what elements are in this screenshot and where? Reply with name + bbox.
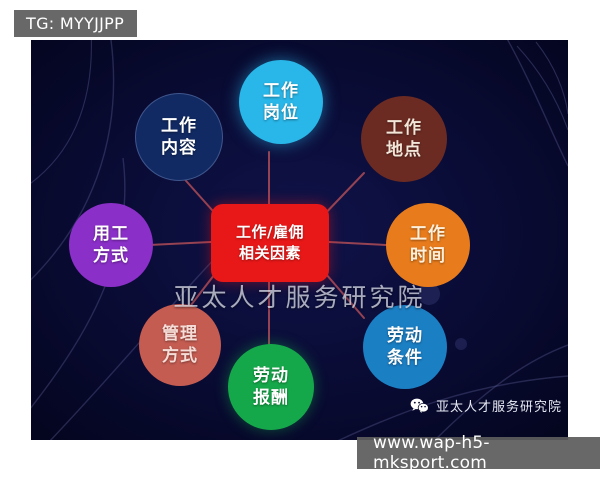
wechat-credit-label: 亚太人才服务研究院 (436, 396, 562, 415)
center-node[interactable]: 工作/雇佣 相关因素 (211, 204, 329, 282)
screenshot-root: 工作 岗位 工作 地点 工作 时间 劳动 条件 劳动 报酬 管理 方式 用工 方… (0, 0, 600, 480)
node-baochou-line2: 报酬 (253, 387, 289, 409)
center-node-line1: 工作/雇佣 (236, 222, 304, 243)
node-tiaojian-line1: 劳动 (387, 325, 423, 347)
node-shijian-line2: 时间 (410, 245, 446, 267)
node-tiaojian-line2: 条件 (387, 347, 423, 369)
node-didian[interactable]: 工作 地点 (361, 96, 447, 182)
tg-tag-label: TG: MYYJJPP (26, 14, 124, 33)
node-baochou[interactable]: 劳动 报酬 (228, 344, 314, 430)
node-yonggong[interactable]: 用工 方式 (69, 203, 153, 287)
node-yonggong-line1: 用工 (93, 223, 129, 245)
node-tiaojian[interactable]: 劳动 条件 (363, 305, 447, 389)
node-guanli-line2: 方式 (162, 345, 198, 367)
site-url-label: www.wap-h5-mksport.com (373, 433, 584, 473)
node-guanli-line1: 管理 (162, 323, 198, 345)
wechat-credit: 亚太人才服务研究院 (410, 396, 562, 415)
node-yonggong-line2: 方式 (93, 245, 129, 267)
node-shijian[interactable]: 工作 时间 (386, 203, 470, 287)
node-neirong-line1: 工作 (161, 115, 197, 137)
diagram-canvas: 工作 岗位 工作 地点 工作 时间 劳动 条件 劳动 报酬 管理 方式 用工 方… (31, 40, 568, 440)
center-node-line2: 相关因素 (239, 243, 301, 264)
node-gangwei-line2: 岗位 (263, 102, 299, 124)
wechat-icon (410, 398, 429, 413)
site-url-chip: www.wap-h5-mksport.com (357, 437, 600, 469)
node-neirong-line2: 内容 (161, 137, 197, 159)
node-baochou-line1: 劳动 (253, 365, 289, 387)
node-gangwei-line1: 工作 (263, 80, 299, 102)
node-guanli[interactable]: 管理 方式 (139, 304, 221, 386)
tg-tag-chip: TG: MYYJJPP (14, 10, 137, 37)
node-shijian-line1: 工作 (410, 223, 446, 245)
node-didian-line2: 地点 (386, 139, 422, 161)
node-didian-line1: 工作 (386, 117, 422, 139)
node-gangwei[interactable]: 工作 岗位 (239, 60, 323, 144)
node-neirong[interactable]: 工作 内容 (135, 93, 223, 181)
